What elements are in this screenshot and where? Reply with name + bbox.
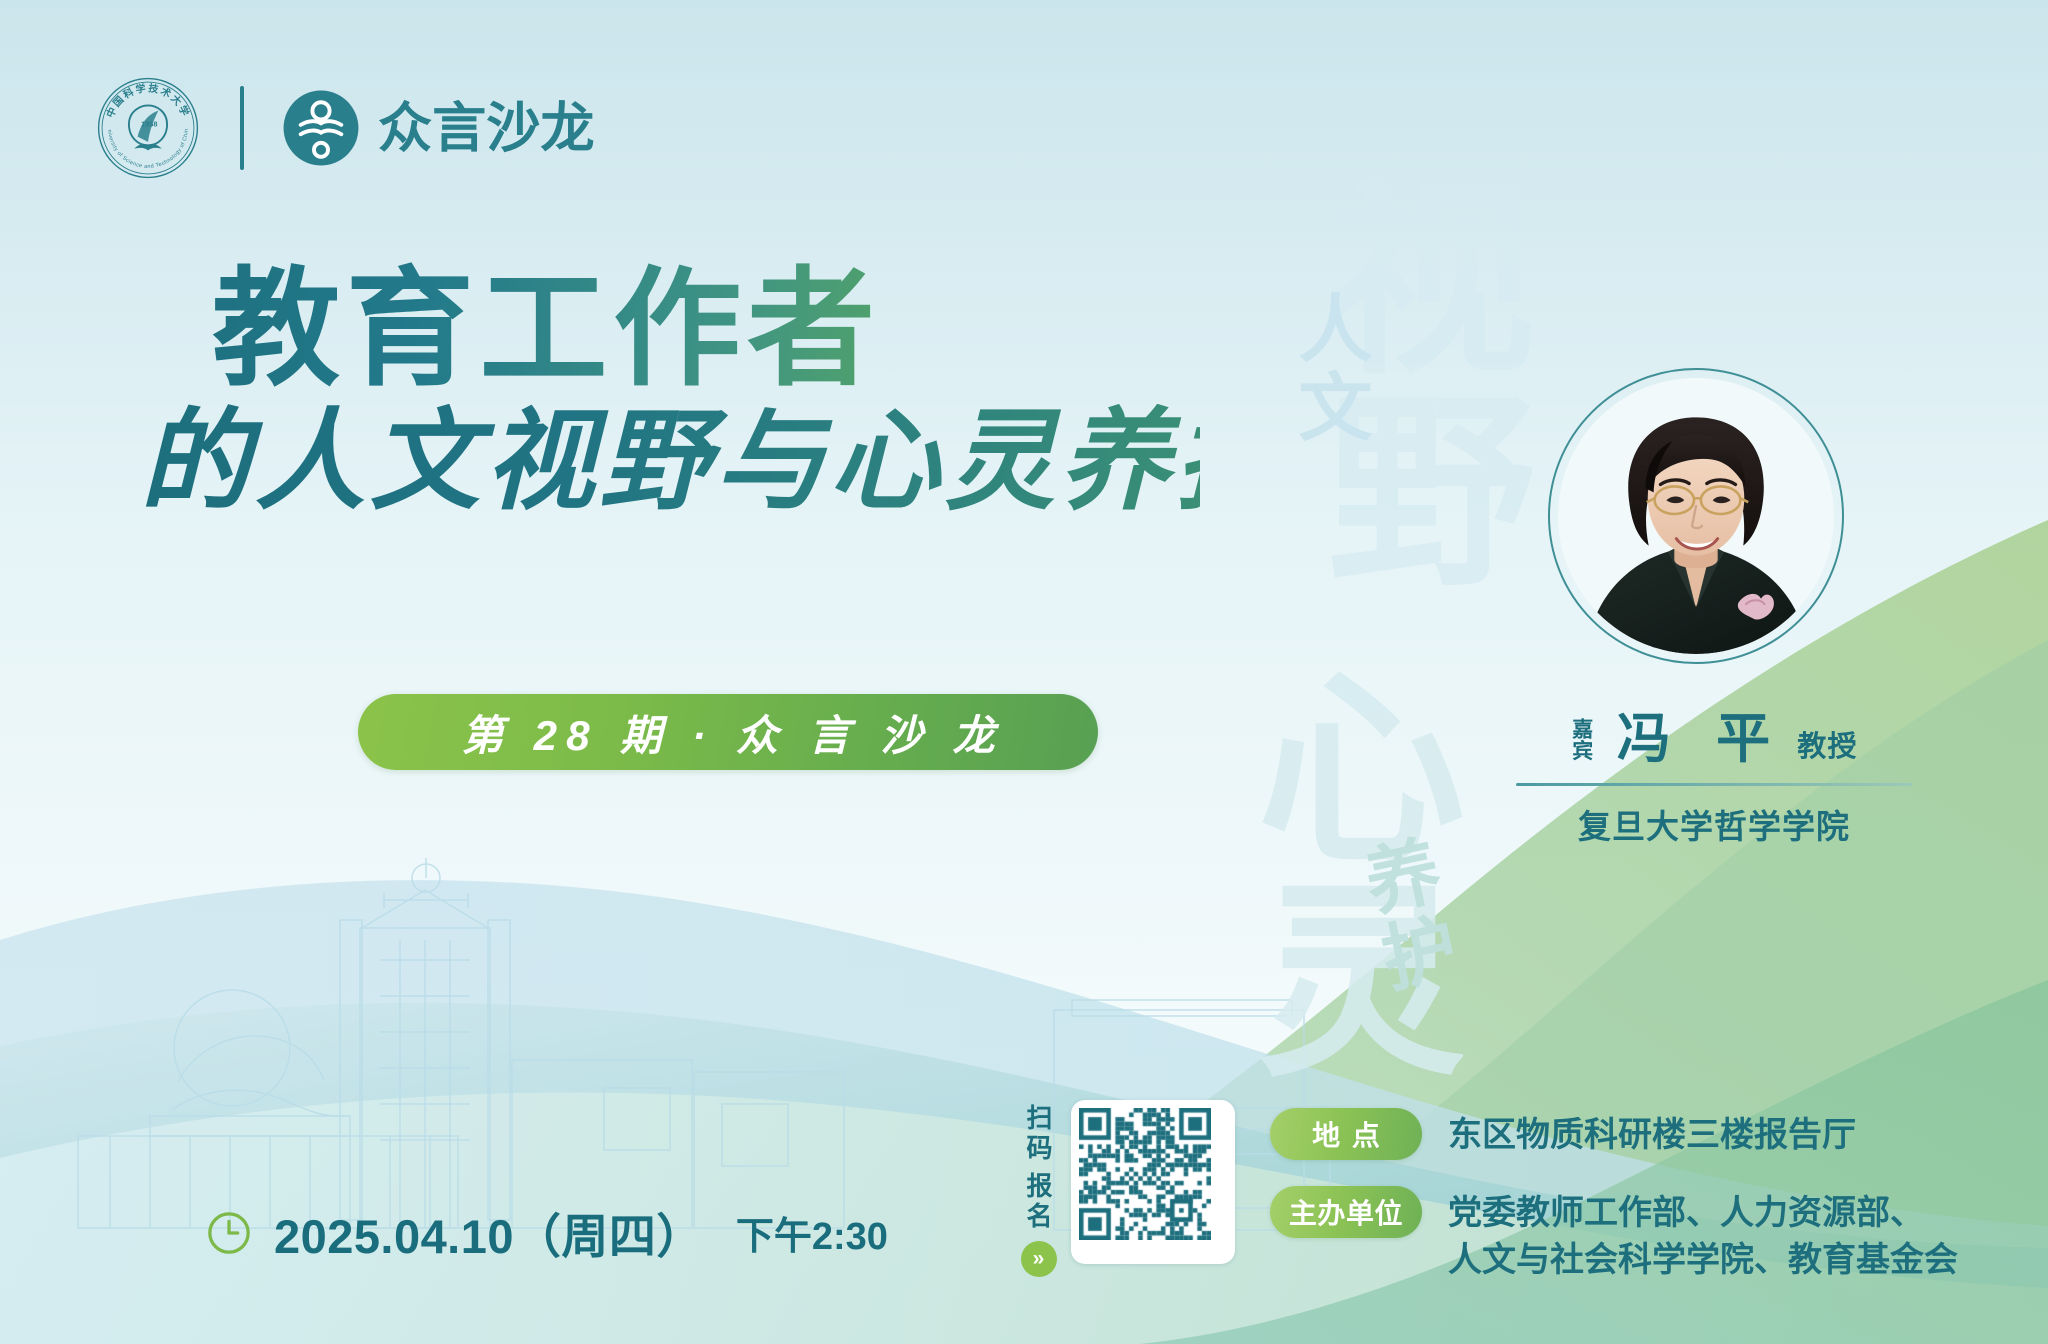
qr-code-card[interactable] (1071, 1100, 1235, 1264)
speaker-portrait (1548, 368, 1844, 664)
session-badge-label: 第 28 期 · 众 言 沙 龙 (452, 702, 1003, 763)
salon-wordmark: 众言沙龙 (378, 97, 640, 159)
speaker-affiliation: 复旦大学哲学学院 (1516, 800, 1912, 848)
speaker-rank: 教授 (1797, 723, 1857, 765)
registration-caption: 扫码 报名 » (1020, 1100, 1057, 1277)
event-datetime: 2025.04.10（周四） 下午2:30 (206, 1198, 888, 1267)
salon-emblem-icon (282, 89, 360, 167)
event-info-block: 地点 东区物质科研楼三楼报告厅 主办单位 党委教师工作部、人力资源部、人文与社会… (1270, 1108, 1990, 1310)
event-date: 2025.04.10（周四） (274, 1198, 704, 1267)
speaker-name: 冯 平 (1602, 694, 1785, 773)
seal-top-text: 中国科学技术大学 (103, 81, 192, 119)
page-title-line-1: 教育工作者 (140, 262, 1200, 398)
info-value-organizer: 党委教师工作部、人力资源部、人文与社会科学学院、教育基金会 (1448, 1186, 1958, 1284)
speaker-divider (1516, 783, 1912, 786)
registration-caption-line-2: 报名 (1020, 1172, 1057, 1232)
logo-divider (240, 86, 244, 170)
page-title-line-2: 的人文视野与心灵养护 (140, 404, 1200, 521)
registration-caption-line-1: 扫码 (1020, 1104, 1057, 1164)
info-value-location: 东区物质科研楼三楼报告厅 (1448, 1108, 1856, 1159)
speaker-info: 嘉宾 冯 平 教授 复旦大学哲学学院 (1516, 694, 1912, 848)
registration-qr-code[interactable] (1079, 1108, 1211, 1240)
clock-icon (206, 1210, 252, 1256)
session-badge: 第 28 期 · 众 言 沙 龙 (358, 694, 1098, 770)
poster-header: 中国科学技术大学 University of Science and Techn… (96, 76, 640, 180)
info-row-organizer: 主办单位 党委教师工作部、人力资源部、人文与社会科学学院、教育基金会 (1270, 1186, 1990, 1284)
svg-text:中国科学技术大学: 中国科学技术大学 (103, 81, 192, 119)
salon-wordmark-text: 众言沙龙 (378, 98, 595, 158)
ustc-seal-logo: 中国科学技术大学 University of Science and Techn… (96, 76, 200, 180)
info-tag-location: 地点 (1270, 1108, 1422, 1160)
double-chevron-right-icon[interactable]: » (1021, 1241, 1057, 1277)
event-time: 下午2:30 (736, 1205, 888, 1260)
registration-block[interactable]: 扫码 报名 » (1020, 1100, 1235, 1277)
info-row-location: 地点 东区物质科研楼三楼报告厅 (1270, 1108, 1990, 1160)
info-tag-organizer: 主办单位 (1270, 1186, 1422, 1238)
portrait-image (1558, 378, 1834, 654)
title-block: 教育工作者 的人文视野与心灵养护 (140, 262, 1200, 520)
seal-year: 1958 (141, 119, 157, 128)
guest-label: 嘉宾 (1570, 712, 1591, 766)
poster-canvas: 视野 人文 心灵 养护 中国科学技术大学 University of Scien… (0, 0, 2048, 1344)
